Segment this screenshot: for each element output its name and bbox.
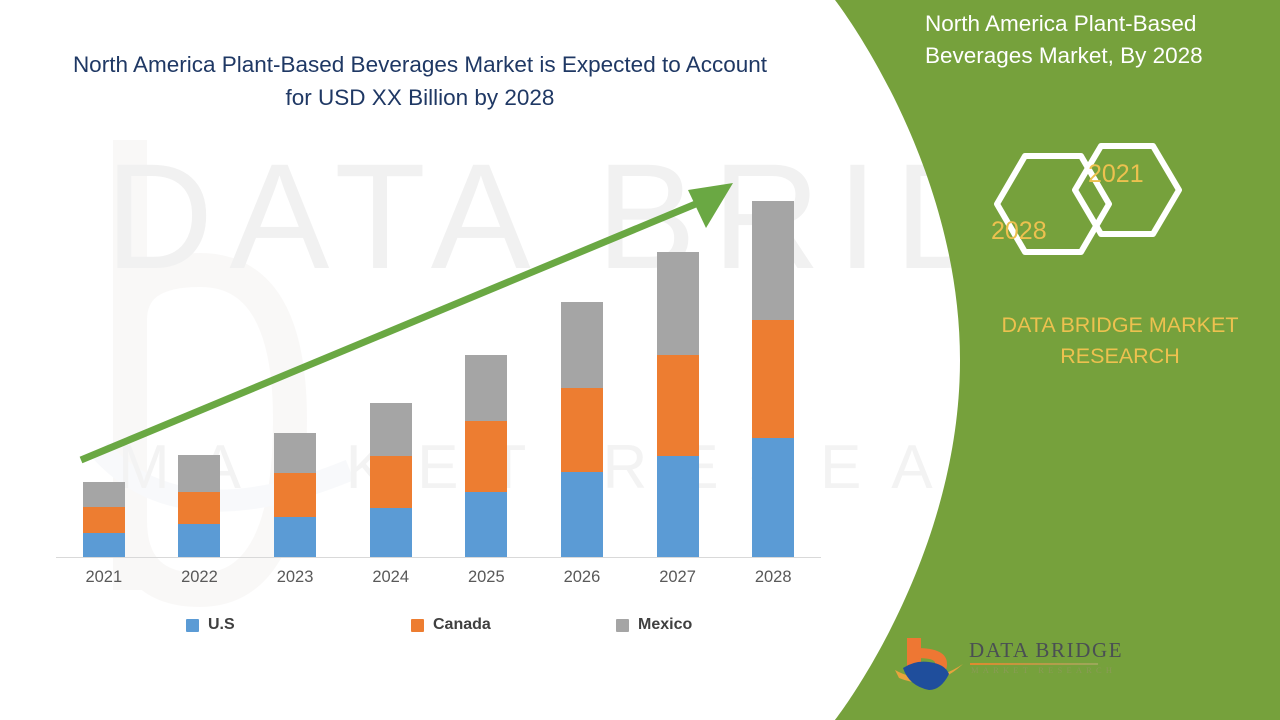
bar-segment-us	[178, 524, 220, 557]
bar-column	[178, 455, 220, 557]
bar-segment-mexico	[657, 252, 699, 355]
bar-segment-us	[752, 438, 794, 557]
hex-label-2028: 2028	[991, 217, 1047, 246]
bar-segment-canada	[752, 320, 794, 438]
bar-segment-us	[657, 456, 699, 557]
chart-legend: U.SCanadaMexico	[56, 616, 821, 644]
bar-segment-mexico	[465, 355, 507, 421]
x-tick-2021: 2021	[64, 568, 144, 587]
legend-label: Mexico	[638, 616, 692, 634]
bar-segment-mexico	[178, 455, 220, 492]
bar-segment-us	[561, 472, 603, 557]
logo-mark-icon	[893, 634, 967, 694]
legend-swatch-icon	[411, 619, 424, 632]
bar-segment-canada	[465, 421, 507, 492]
bar-segment-mexico	[274, 433, 316, 473]
legend-swatch-icon	[186, 619, 199, 632]
bar-segment-mexico	[752, 201, 794, 320]
bar-segment-us	[370, 508, 412, 557]
x-tick-2024: 2024	[351, 568, 431, 587]
legend-item-u-s[interactable]: U.S	[186, 616, 235, 634]
x-axis-line	[56, 557, 821, 558]
bar-group	[56, 160, 821, 557]
legend-item-mexico[interactable]: Mexico	[616, 616, 692, 634]
legend-label: U.S	[208, 616, 235, 634]
legend-label: Canada	[433, 616, 491, 634]
x-tick-2023: 2023	[255, 568, 335, 587]
bar-segment-canada	[370, 456, 412, 508]
bar-segment-us	[83, 533, 125, 557]
bar-segment-us	[465, 492, 507, 557]
bar-segment-us	[274, 517, 316, 557]
bar-segment-canada	[274, 473, 316, 517]
bar-segment-canada	[83, 507, 125, 533]
logo-name: DATA BRIDGE	[969, 638, 1123, 663]
page-title: North America Plant-Based Beverages Mark…	[60, 48, 780, 114]
bar-column	[657, 252, 699, 557]
bar-segment-canada	[657, 355, 699, 456]
bar-column	[465, 355, 507, 557]
infographic-root: DATA BRIDGE MARKET RESEARCH 202120222023…	[0, 0, 1280, 720]
data-bridge-logo: DATA BRIDGE MARKET RESEARCH	[893, 634, 1108, 696]
bar-segment-canada	[178, 492, 220, 524]
x-tick-2027: 2027	[638, 568, 718, 587]
x-tick-2022: 2022	[159, 568, 239, 587]
bar-column	[83, 482, 125, 557]
logo-tagline: MARKET RESEARCH	[971, 665, 1116, 675]
bar-column	[274, 433, 316, 557]
bar-column	[370, 403, 412, 557]
bar-segment-mexico	[83, 482, 125, 507]
bar-segment-canada	[561, 388, 603, 472]
hex-label-2021: 2021	[1088, 160, 1144, 189]
legend-swatch-icon	[616, 619, 629, 632]
brand-name: DATA BRIDGE MARKET RESEARCH	[960, 310, 1280, 372]
bar-segment-mexico	[561, 302, 603, 388]
legend-item-canada[interactable]: Canada	[411, 616, 491, 634]
x-tick-2026: 2026	[542, 568, 622, 587]
hexagon-badges: 2028 2021	[975, 132, 1195, 292]
bar-column	[561, 302, 603, 557]
x-tick-2025: 2025	[446, 568, 526, 587]
bar-segment-mexico	[370, 403, 412, 456]
x-tick-2028: 2028	[733, 568, 813, 587]
panel-title: North America Plant-Based Beverages Mark…	[925, 8, 1255, 72]
bar-column	[752, 201, 794, 557]
